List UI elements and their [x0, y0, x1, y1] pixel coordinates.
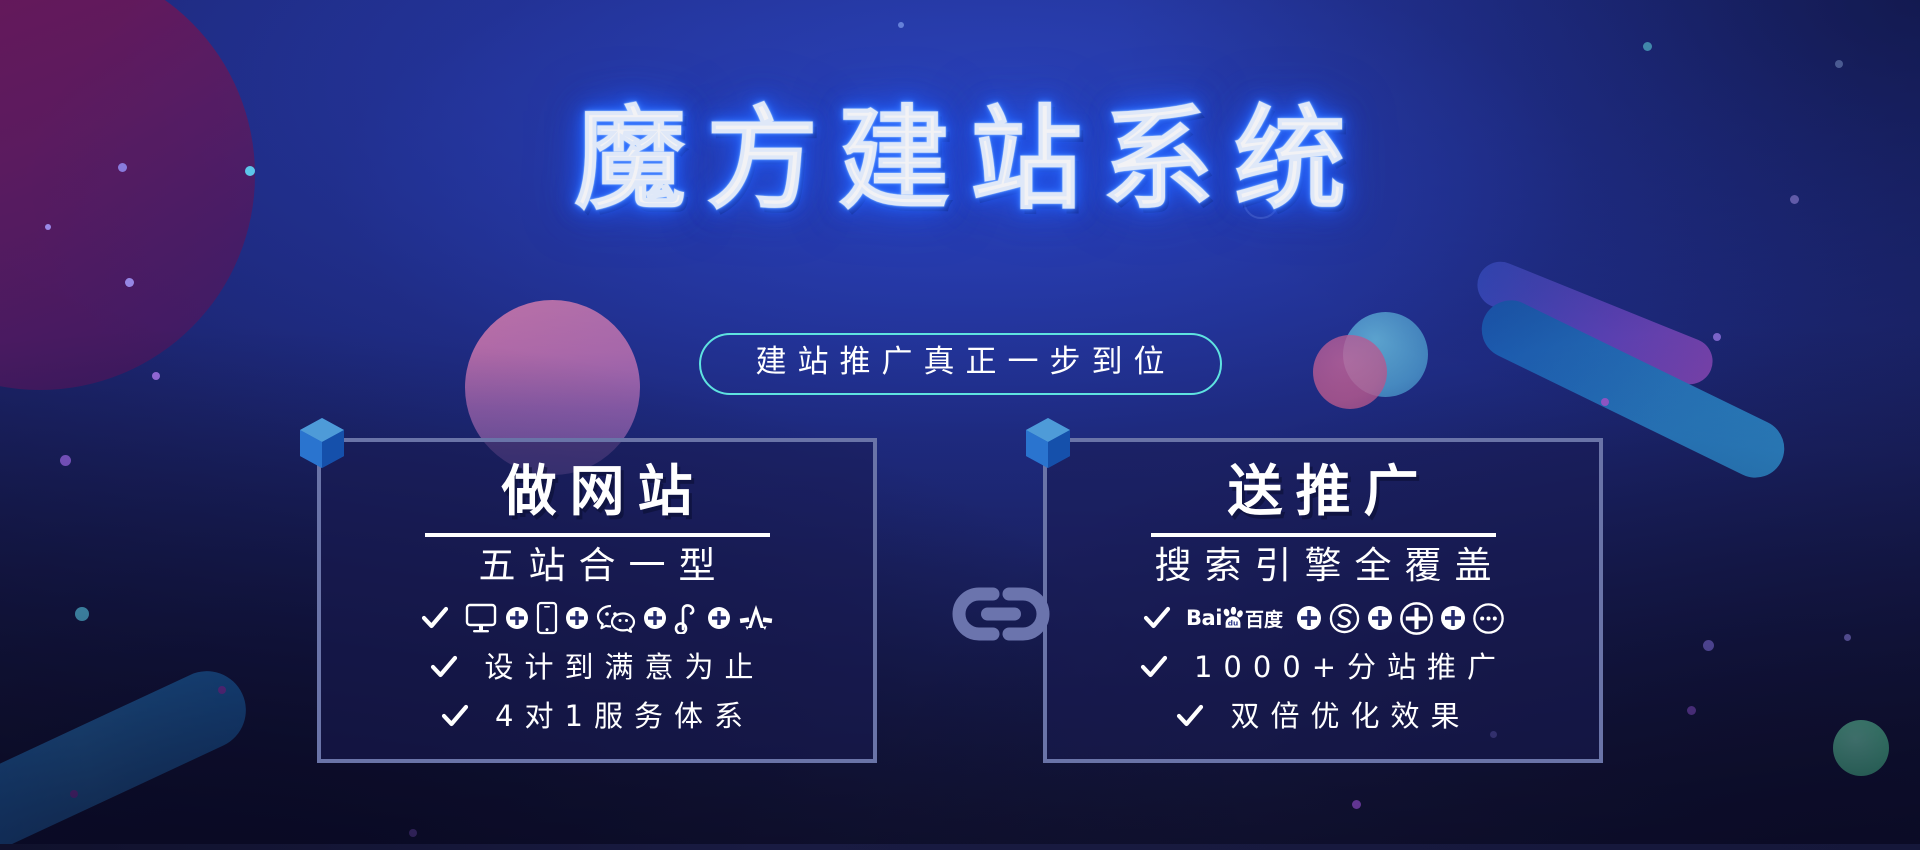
- title-underline: [425, 533, 770, 537]
- ellipsis-circle-icon: [1473, 603, 1504, 634]
- check-icon: [1175, 701, 1205, 731]
- check-icon: [1142, 603, 1172, 633]
- feature-row-service: 4对1服务体系: [440, 696, 754, 736]
- card-title-free-promotion: 送推广: [1214, 464, 1431, 519]
- title-container: 魔方建站系统: [0, 94, 1920, 226]
- card-subtitle-make-website: 五站合一型: [466, 543, 729, 589]
- bottom-edge-strip: [0, 844, 1920, 850]
- feature-row-design: 设计到满意为止: [429, 647, 764, 687]
- svg-text:du: du: [1228, 618, 1239, 627]
- plus-circle-icon: [707, 606, 731, 630]
- music-note-icon: [674, 602, 700, 634]
- star-dot: [70, 790, 78, 798]
- subtitle-container: 建站推广真正一步到位: [0, 333, 1920, 395]
- feature-text-design: 设计到满意为止: [473, 653, 764, 682]
- star-dot: [1643, 42, 1652, 51]
- baidu-logo-icon: Bai du 百度: [1186, 605, 1283, 632]
- title-underline: [1151, 533, 1496, 537]
- feature-row-optimization: 双倍优化效果: [1175, 696, 1470, 736]
- star-dot: [409, 829, 417, 837]
- star-dot: [125, 278, 134, 287]
- chain-link-icon: [941, 580, 1061, 648]
- banner-subtitle-pill: 建站推广真正一步到位: [699, 333, 1222, 395]
- feature-row-search-engines: Bai du 百度: [1142, 598, 1504, 638]
- star-dot: [898, 22, 904, 28]
- cube-gem-icon: [1023, 416, 1073, 472]
- plus-circle-icon: [1440, 605, 1466, 631]
- card-make-website[interactable]: 做网站 五站合一型: [317, 438, 877, 763]
- star-dot: [1352, 800, 1361, 809]
- plus-circle-icon: [643, 606, 667, 630]
- check-icon: [420, 603, 450, 633]
- card-subtitle-free-promotion: 搜索引擎全覆盖: [1142, 543, 1505, 589]
- plus-circle-large-icon: [1400, 602, 1433, 635]
- sogou-logo-icon: [1329, 603, 1360, 634]
- baidu-cn-text: 百度: [1245, 605, 1283, 632]
- plus-circle-icon: [1296, 605, 1322, 631]
- feature-text-service: 4对1服务体系: [484, 702, 754, 731]
- card-title-make-website: 做网站: [488, 464, 705, 519]
- plus-circle-icon: [1367, 605, 1393, 631]
- check-icon: [1139, 652, 1169, 682]
- wechat-icon: [596, 603, 636, 633]
- baidu-latin-text: Bai: [1186, 606, 1222, 630]
- search-engine-icon-list: Bai du 百度: [1186, 602, 1504, 635]
- mobile-phone-icon: [536, 601, 558, 635]
- banner-title: 魔方建站系统: [554, 94, 1366, 226]
- feature-row-platform-icons: [420, 598, 774, 638]
- promo-banner: 魔方建站系统 建站推广真正一步到位 做网站 五站合一型: [0, 0, 1920, 850]
- cube-gem-icon: [297, 416, 347, 472]
- desktop-monitor-icon: [464, 602, 498, 634]
- baidu-paw-icon: du: [1221, 607, 1245, 630]
- feature-text-subsites: 1000+分站推广: [1183, 653, 1507, 682]
- card-free-promotion[interactable]: 送推广 搜索引擎全覆盖 Bai: [1043, 438, 1603, 763]
- feature-row-subsites: 1000+分站推广: [1139, 647, 1507, 687]
- platform-icon-list: [464, 601, 774, 635]
- app-store-icon: [738, 602, 774, 634]
- check-icon: [440, 701, 470, 731]
- plus-circle-icon: [505, 606, 529, 630]
- check-icon: [429, 652, 459, 682]
- star-dot: [1601, 398, 1609, 406]
- plus-circle-icon: [565, 606, 589, 630]
- star-dot: [1835, 60, 1843, 68]
- feature-text-optimization: 双倍优化效果: [1219, 702, 1470, 731]
